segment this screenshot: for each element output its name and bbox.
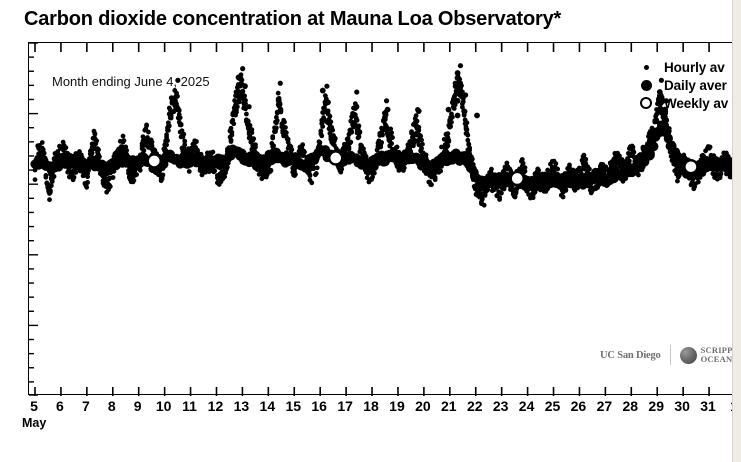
scripps-text: SCRIPPS OCEANO — [701, 346, 740, 365]
brand-divider — [670, 345, 671, 365]
x-tick-label: 6 — [56, 398, 64, 414]
x-tick-label: 24 — [519, 398, 535, 414]
x-tick-label: 9 — [134, 398, 142, 414]
x-tick-label: 5 — [30, 398, 38, 414]
legend-item-weekly: Weekly av — [628, 94, 728, 112]
x-tick-label: 11 — [182, 398, 197, 414]
large-dot-icon — [628, 80, 664, 91]
x-tick-label: 7 — [82, 398, 90, 414]
scripps-line-2: OCEANO — [701, 354, 740, 364]
legend: Hourly av Daily aver Weekly av — [628, 58, 728, 112]
x-tick-label: 21 — [441, 398, 457, 414]
x-tick-label: 18 — [363, 398, 379, 414]
x-tick-label: 15 — [285, 398, 301, 414]
x-tick-label: 28 — [622, 398, 638, 414]
scripps-logo: SCRIPPS OCEANO — [680, 346, 740, 365]
legend-item-daily: Daily aver — [628, 76, 728, 94]
x-tick-label: 1 — [730, 398, 738, 414]
x-tick-label: 12 — [208, 398, 224, 414]
x-tick-label: 23 — [493, 398, 509, 414]
annotation-text: Month ending June 4, 2025 — [52, 74, 210, 89]
x-tick-label: 19 — [389, 398, 405, 414]
chart-page: Carbon dioxide concentration at Mauna Lo… — [0, 0, 741, 462]
branding: UC San Diego SCRIPPS OCEANO — [600, 345, 739, 365]
legend-item-hourly: Hourly av — [628, 58, 728, 76]
x-tick-label: 16 — [311, 398, 327, 414]
legend-label-daily: Daily aver — [664, 78, 727, 93]
x-tick-label: 30 — [674, 398, 690, 414]
small-dot-icon — [628, 65, 664, 70]
scripps-line-1: SCRIPPS — [701, 345, 738, 355]
x-tick-label: 22 — [467, 398, 483, 414]
open-circle-icon — [628, 97, 664, 109]
x-tick-label: 17 — [337, 398, 353, 414]
x-axis-month-label: May — [22, 416, 46, 430]
x-tick-label: 8 — [108, 398, 116, 414]
x-tick-label: 13 — [234, 398, 250, 414]
x-tick-label: 29 — [648, 398, 664, 414]
page-title: Carbon dioxide concentration at Mauna Lo… — [24, 8, 561, 31]
x-tick-label: 20 — [415, 398, 431, 414]
x-tick-label: 31 — [700, 398, 716, 414]
ucsd-logo: UC San Diego — [600, 350, 661, 361]
legend-label-weekly: Weekly av — [664, 96, 728, 111]
x-tick-label: 26 — [571, 398, 587, 414]
legend-label-hourly: Hourly av — [664, 60, 725, 75]
x-tick-label: 27 — [597, 398, 613, 414]
x-tick-label: 14 — [260, 398, 276, 414]
globe-icon — [680, 347, 697, 364]
x-axis-labels: May 567891011121314151617181920212223242… — [0, 398, 741, 438]
x-tick-label: 25 — [545, 398, 561, 414]
x-tick-label: 10 — [156, 398, 172, 414]
